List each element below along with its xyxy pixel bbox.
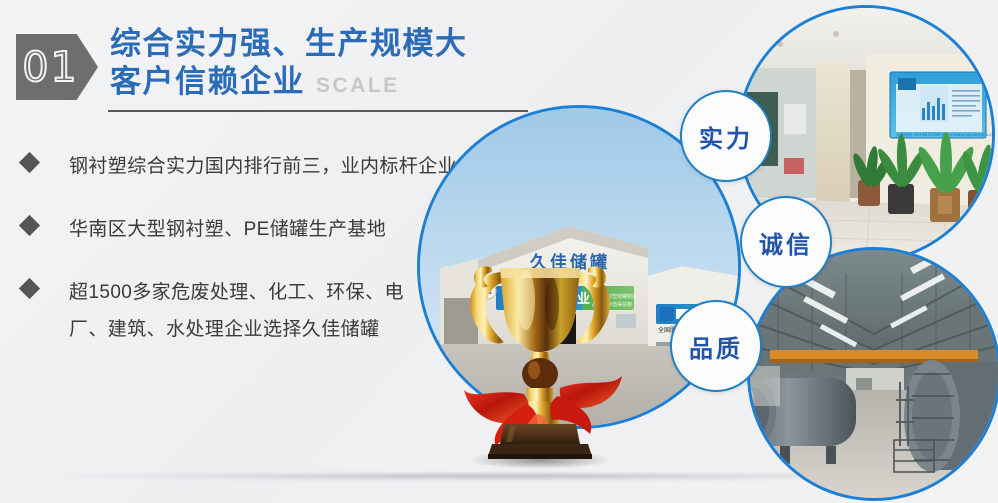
badge-shili[interactable]: 实力 [680,90,772,182]
list-item-label-wrap: 超1500多家危废处理、化工、环保、电 厂、建筑、水处理企业选择久佳储罐 [69,274,404,348]
page-title-suffix: SCALE [316,74,400,97]
gold-trophy-with-red-ribbon [440,238,640,468]
diamond-bullet-icon [19,278,40,299]
badge-pinzhi[interactable]: 品质 [670,300,762,392]
section-number-badge: 01 [16,34,98,100]
list-item-label: 华南区大型钢衬塑、PE储罐生产基地 [69,211,386,248]
badge-shili-label: 实力 [699,119,753,154]
list-item-label-line2: 厂、建筑、水处理企业选择久佳储罐 [69,311,404,348]
promo-banner: 01 综合实力强、生产规模大 客户信赖企业SCALE 钢衬塑综合实力国内排行前三… [0,0,998,503]
badge-chengxin-label: 诚信 [759,225,813,260]
section-number-text: 01 [22,47,91,88]
badge-chengxin[interactable]: 诚信 [740,196,832,288]
list-item-label: 钢衬塑综合实力国内排行前三，业内标杆企业 [69,148,457,185]
photo-collage: 高新技术企业 专业钢衬塑储罐制造 品质服务值得信赖 久佳储罐 诚信联盟企业 全国… [430,0,998,503]
page-title-line2-text: 客户信赖企业 [110,64,305,99]
list-item-label: 超1500多家危废处理、化工、环保、电 [69,282,404,303]
badge-pinzhi-label: 品质 [689,329,743,364]
diamond-bullet-icon [19,215,40,236]
diamond-bullet-icon [19,152,40,173]
